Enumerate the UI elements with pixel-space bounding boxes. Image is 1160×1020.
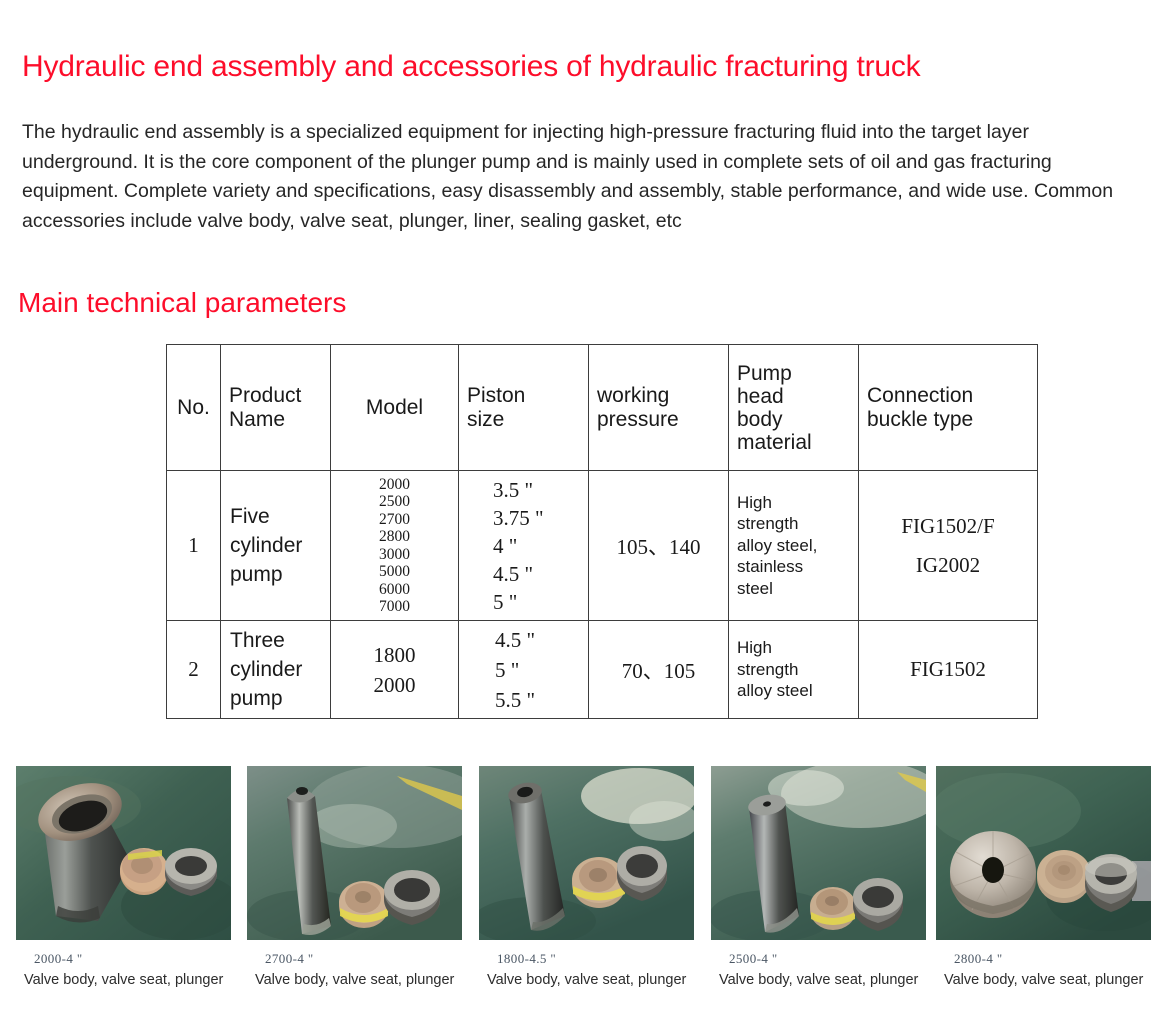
header-cell-piston-size: Piston size [459,345,589,471]
model-list-value: 1800 2000 [331,640,458,700]
product-photo-plunger-bore-end[interactable] [479,766,694,940]
cell-connection: FIG1502/F IG2002 [859,471,1038,621]
product-photo-valve-seat-trio[interactable] [936,766,1151,940]
photo-caption-description: Valve body, valve seat, plunger [719,972,926,988]
cell-material: High strength alloy steel [729,621,859,719]
photo-artwork [479,766,694,940]
cell-no: 1 [167,471,221,621]
header-label-material: material [737,431,852,454]
cell-material: High strength alloy steel, stainless ste… [729,471,859,621]
product-name-value: Three cylinder pump [221,626,330,713]
product-photo-liner-open-end[interactable] [16,766,231,940]
gallery-item[interactable]: 2000-4 " Valve body, valve seat, plunger [16,766,231,988]
photo-artwork [247,766,462,940]
photo-caption-model: 2700-4 " [265,951,462,967]
cell-piston-size: 3.5 " 3.75 " 4 " 4.5 " 5 " [459,471,589,621]
connection-value: FIG1502/F IG2002 [859,507,1037,585]
photo-caption-model: 2500-4 " [729,951,926,967]
header-label-connection: Connection [867,384,1031,408]
header-cell-working-pressure: working pressure [589,345,729,471]
row-number: 2 [167,657,220,682]
cell-model: 2000 2500 2700 2800 3000 5000 6000 7000 [331,471,459,621]
cell-working-pressure: 70、105 [589,621,729,719]
header-cell-connection-buckle-type: Connection buckle type [859,345,1038,471]
spec-table-container: No. Product Name Model Piston size [166,344,1037,719]
cell-model: 1800 2000 [331,621,459,719]
photo-caption-description: Valve body, valve seat, plunger [255,972,462,988]
header-cell-product-name: Product Name [221,345,331,471]
header-label-product: Product [229,384,324,408]
gallery-item[interactable]: 2800-4 " Valve body, valve seat, plunger [936,766,1151,988]
header-label-no: No. [167,395,220,420]
photo-caption-description: Valve body, valve seat, plunger [944,972,1151,988]
cell-product-name: Five cylinder pump [221,471,331,621]
material-value: High strength alloy steel, stainless ste… [729,492,858,600]
gallery-item[interactable]: 1800-4.5 " Valve body, valve seat, plung… [479,766,694,988]
header-label-pressure: pressure [597,408,722,432]
table-header-row: No. Product Name Model Piston size [167,345,1038,471]
piston-size-value: 3.5 " 3.75 " 4 " 4.5 " 5 " [459,476,588,616]
header-label-model: Model [331,395,458,420]
photo-artwork [16,766,231,940]
product-photo-plunger-flat-end[interactable] [711,766,926,940]
cell-working-pressure: 105、140 [589,471,729,621]
section-title-main-technical-parameters: Main technical parameters [18,287,346,319]
table-row: 2 Three cylinder pump 1800 2000 4.5 " 5 … [167,621,1038,719]
header-label-piston: Piston [467,384,582,408]
photo-caption-model: 2000-4 " [34,951,231,967]
cell-piston-size: 4.5 " 5 " 5.5 " [459,621,589,719]
gallery-item[interactable]: 2700-4 " Valve body, valve seat, plunger [247,766,462,988]
intro-paragraph: The hydraulic end assembly is a speciali… [22,118,1140,236]
header-label-pump: Pump [737,362,852,385]
table-row: 1 Five cylinder pump 2000 2500 2700 2800… [167,471,1038,621]
header-cell-no: No. [167,345,221,471]
photo-artwork [936,766,1151,940]
cell-product-name: Three cylinder pump [221,621,331,719]
header-label-working: working [597,384,722,408]
gallery-item[interactable]: 2500-4 " Valve body, valve seat, plunger [711,766,926,988]
spec-table: No. Product Name Model Piston size [166,344,1038,719]
photo-caption-description: Valve body, valve seat, plunger [487,972,694,988]
piston-size-value: 4.5 " 5 " 5.5 " [459,625,588,715]
photo-caption-model: 1800-4.5 " [497,951,694,967]
connection-value: FIG1502 [859,650,1037,689]
page-title: Hydraulic end assembly and accessories o… [22,50,920,84]
cell-no: 2 [167,621,221,719]
product-name-value: Five cylinder pump [221,502,330,589]
header-label-size: size [467,408,582,432]
photo-caption-model: 2800-4 " [954,951,1151,967]
header-cell-model: Model [331,345,459,471]
material-value: High strength alloy steel [729,637,858,702]
row-number: 1 [167,533,220,558]
working-pressure-value: 105、140 [589,531,728,561]
header-label-body: body [737,408,852,431]
photo-caption-description: Valve body, valve seat, plunger [24,972,231,988]
product-photo-gallery: 2000-4 " Valve body, valve seat, plunger [0,766,1160,1006]
header-label-name: Name [229,408,324,432]
photo-artwork [711,766,926,940]
header-label-buckle-type: buckle type [867,408,1031,432]
header-cell-pump-head-body-material: Pump head body material [729,345,859,471]
product-photo-plunger-tall-dome[interactable] [247,766,462,940]
cell-connection: FIG1502 [859,621,1038,719]
header-label-head: head [737,385,852,408]
working-pressure-value: 70、105 [589,655,728,685]
model-list-value: 2000 2500 2700 2800 3000 5000 6000 7000 [331,476,458,616]
